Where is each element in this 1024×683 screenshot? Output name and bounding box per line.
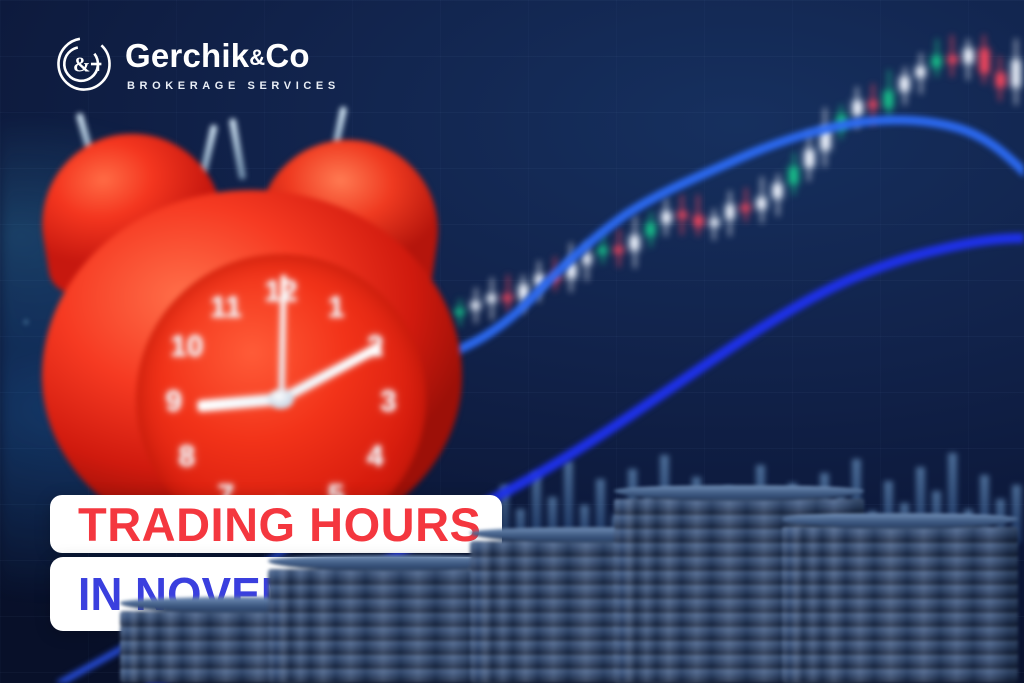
clock-numeral-11: 11 [210, 291, 242, 325]
clock-numeral-1: 1 [328, 291, 345, 325]
coin [782, 667, 1018, 683]
coin [782, 569, 1018, 585]
clock-minute-hand [279, 342, 382, 403]
coin [782, 583, 1018, 599]
promo-banner: 12 1 2 3 4 5 6 7 8 9 10 11 [0, 0, 1024, 683]
coin [782, 639, 1018, 655]
title-line-1: TRADING HOURS [78, 501, 481, 548]
svg-text:&: & [73, 53, 90, 77]
clock-striker [229, 118, 247, 180]
logo-text: Gerchik&Co BROKERAGE SERVICES [125, 37, 340, 92]
clock-numeral-9: 9 [165, 385, 182, 419]
gerchik-monogram-icon: & [55, 35, 113, 93]
coin [782, 625, 1018, 641]
clock-numeral-3: 3 [380, 385, 397, 419]
logo-tagline: BROKERAGE SERVICES [127, 80, 340, 92]
coin [782, 541, 1018, 557]
logo-ampersand: & [249, 45, 265, 70]
coin [782, 527, 1018, 543]
coin [782, 555, 1018, 571]
coin [782, 597, 1018, 613]
coin [782, 611, 1018, 627]
logo-word-co: Co [265, 37, 309, 74]
logo-wordmark: Gerchik&Co [125, 37, 340, 77]
coin-stack [782, 503, 1018, 683]
logo-word-gerchik: Gerchik [125, 37, 249, 74]
coin [782, 653, 1018, 669]
clock-numeral-10: 10 [170, 330, 203, 364]
clock-center-cap [268, 389, 294, 409]
